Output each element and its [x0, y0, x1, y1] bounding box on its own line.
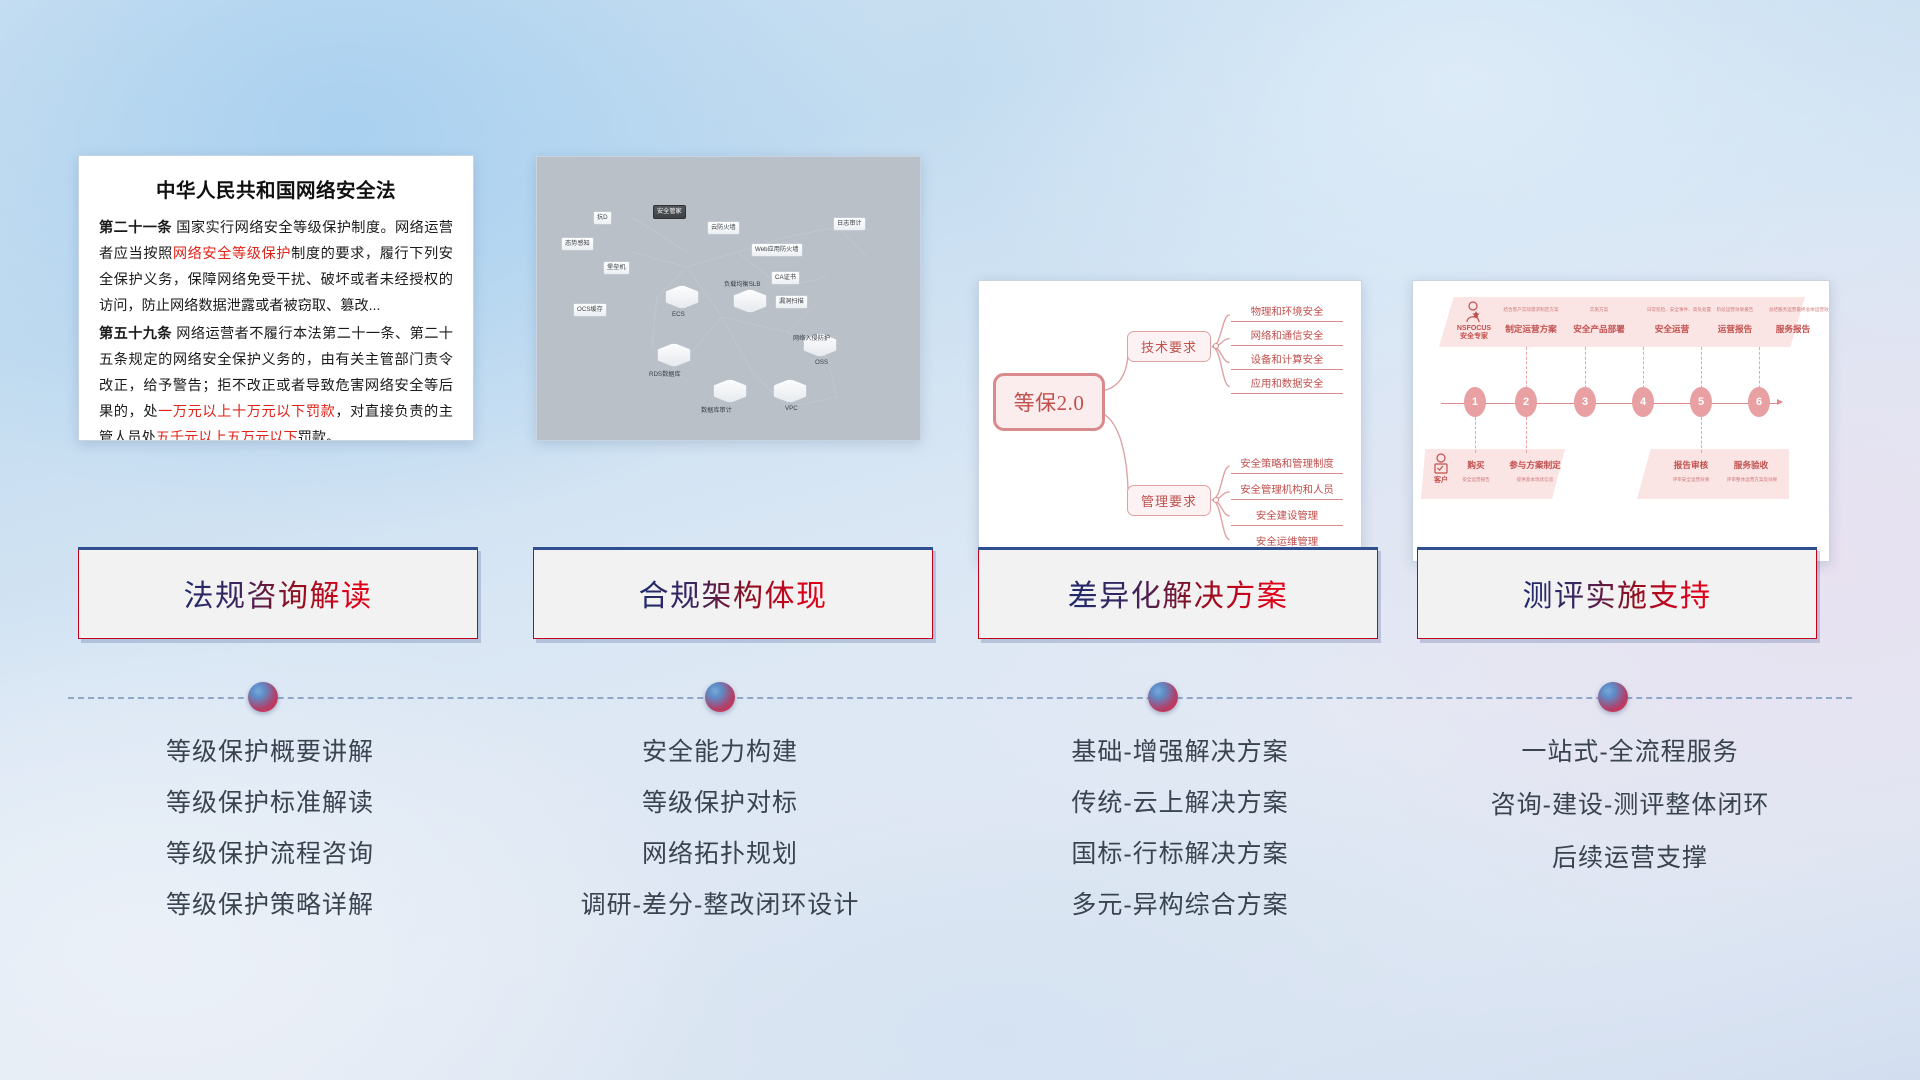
section-item: 后续运营支撑 — [1410, 846, 1850, 871]
process-step-number: 3 — [1574, 387, 1596, 417]
mindmap-leaf: 安全管理机构和人员 — [1231, 481, 1343, 500]
law-article-59: 第五十九条 网络运营者不履行本法第二十一条、第二十五条规定的网络安全保护义务的，… — [99, 322, 453, 441]
arch-node-label: OCS缓存 — [577, 306, 603, 313]
arch-node-vuln-scan: 漏洞扫描 — [775, 295, 808, 309]
law-article-21-label: 第二十一条 — [99, 220, 172, 236]
timeline-node-4[interactable] — [1598, 682, 1628, 712]
section-item: 等级保护概要讲解 — [60, 740, 480, 765]
timeline-node-2[interactable] — [705, 682, 735, 712]
section-items-column-1: 等级保护概要讲解 等级保护标准解读 等级保护流程咨询 等级保护策略详解 — [60, 740, 480, 944]
arch-node-label: Web应用防火墙 — [755, 246, 799, 253]
law-card-title: 中华人民共和国网络安全法 — [99, 174, 453, 203]
section-header-title: 差异化解决方案 — [1068, 571, 1289, 615]
arch-node-anti-d: 抗D — [593, 211, 612, 225]
process-dash-connector — [1526, 417, 1527, 453]
process-customer-sub: 提供基本现状信息 — [1501, 477, 1569, 483]
card-cybersecurity-law[interactable]: 中华人民共和国网络安全法 第二十一条 国家实行网络安全等级保护制度。网络运营者应… — [78, 155, 474, 441]
customer-person-icon — [1431, 453, 1451, 475]
arch-node-ca-cert: CA证书 — [771, 271, 800, 285]
section-header-box-1[interactable]: 法规咨询解读 — [78, 547, 478, 639]
process-stage-sub: 实施方案 — [1569, 307, 1629, 313]
arch-label-rds: RDS数据库 — [649, 369, 681, 378]
section-item: 安全能力构建 — [500, 740, 940, 765]
arch-node-label: 安全管家 — [657, 208, 682, 215]
mindmap-leaf: 安全策略和管理制度 — [1231, 455, 1343, 474]
card-service-process[interactable]: NSFOCUS 安全专家 客户 结合客户实际需求制定方案 制定运营方案 实施方案… — [1412, 280, 1830, 562]
arch-node-bastion: 堡垒机 — [603, 261, 630, 275]
law-article-59-label: 第五十九条 — [99, 326, 172, 342]
process-stage-sub: 总结服务运营最终总体运营效果 — [1743, 307, 1830, 313]
process-stage-title: 安全产品部署 — [1563, 323, 1635, 335]
process-stage-title: 服务报告 — [1763, 323, 1823, 335]
process-step-number: 1 — [1464, 387, 1486, 417]
arch-node-log-audit: 日志审计 — [833, 217, 866, 231]
process-step-number: 2 — [1515, 387, 1537, 417]
section-item: 等级保护策略详解 — [60, 893, 480, 918]
process-customer-title: 报告审核 — [1663, 459, 1719, 471]
process-step-number: 6 — [1748, 387, 1770, 417]
section-item: 调研-差分-整改闭环设计 — [500, 893, 940, 918]
mindmap-leaf: 物理和环境安全 — [1231, 303, 1343, 322]
expert-role-line2: 安全专家 — [1447, 333, 1501, 341]
arch-label-ecs: ECS — [672, 311, 685, 318]
mindmap-diagram: 等保2.0 技术要求 管理要求 物理和环境安全 网络和通信安全 设备和计算安全 … — [979, 281, 1361, 562]
mindmap-leaf: 网络和通信安全 — [1231, 327, 1343, 346]
section-header-title: 法规咨询解读 — [184, 571, 373, 615]
card-mindmap-dengbao[interactable]: 等保2.0 技术要求 管理要求 物理和环境安全 网络和通信安全 设备和计算安全 … — [978, 280, 1362, 563]
arch-node-security-center: 安全管家 — [653, 205, 686, 219]
section-item: 等级保护标准解读 — [60, 791, 480, 816]
law-article-59-highlight-1: 一万元以上十万元以下罚款 — [158, 404, 335, 420]
arch-node-cloud-firewall: 云防火墙 — [707, 221, 740, 235]
timeline-node-3[interactable] — [1148, 682, 1178, 712]
section-item: 咨询-建设-测评整体闭环 — [1410, 793, 1850, 818]
section-header-box-2[interactable]: 合规架构体现 — [533, 547, 933, 639]
section-header-box-4[interactable]: 测评实施支持 — [1417, 547, 1817, 639]
timeline-dashed-line — [68, 697, 1852, 699]
section-items-column-3: 基础-增强解决方案 传统-云上解决方案 国标-行标解决方案 多元-异构综合方案 — [960, 740, 1400, 944]
process-step-number: 4 — [1632, 387, 1654, 417]
mindmap-leaf: 安全建设管理 — [1231, 507, 1343, 526]
process-customer-sub: 评审整体运营方案及效果 — [1713, 477, 1791, 483]
process-dash-connector — [1475, 417, 1476, 453]
process-stage-title: 运营报告 — [1705, 323, 1765, 335]
section-item: 一站式-全流程服务 — [1410, 740, 1850, 765]
arch-node-label: 日志审计 — [837, 220, 862, 227]
arch-label-vpc: VPC — [785, 405, 798, 412]
section-item: 国标-行标解决方案 — [960, 842, 1400, 867]
screenshot-cards-row: 中华人民共和国网络安全法 第二十一条 国家实行网络安全等级保护制度。网络运营者应… — [0, 128, 1920, 428]
mindmap-branch-management: 管理要求 — [1127, 485, 1211, 516]
process-diagram: NSFOCUS 安全专家 客户 结合客户实际需求制定方案 制定运营方案 实施方案… — [1413, 281, 1829, 561]
arch-node-label: 堡垒机 — [607, 264, 626, 271]
arch-label-slb: 负载均衡SLB — [724, 279, 760, 288]
process-customer-title: 服务验收 — [1723, 459, 1779, 471]
arch-label-network-ips: 网络入侵防护 — [793, 333, 830, 342]
process-axis-arrow-icon — [1777, 399, 1783, 405]
arch-label-db-audit: 数据库审计 — [701, 405, 732, 414]
section-header-box-3[interactable]: 差异化解决方案 — [978, 547, 1378, 639]
mindmap-branch-technical: 技术要求 — [1127, 331, 1211, 362]
timeline-node-1[interactable] — [248, 682, 278, 712]
process-dash-connector — [1701, 417, 1702, 453]
section-items-column-4: 一站式-全流程服务 咨询-建设-测评整体闭环 后续运营支撑 — [1410, 740, 1850, 899]
section-item: 等级保护对标 — [500, 791, 940, 816]
process-customer-title: 购买 — [1455, 459, 1497, 471]
law-article-21: 第二十一条 国家实行网络安全等级保护制度。网络运营者应当按照网络安全等级保护制度… — [99, 216, 453, 320]
mindmap-leaf: 设备和计算安全 — [1231, 351, 1343, 370]
arch-node-label: 抗D — [597, 214, 608, 221]
arch-node-ocs-cache: OCS缓存 — [573, 303, 607, 317]
process-axis-line — [1441, 403, 1779, 404]
law-article-59-highlight-2: 五千元以上五万元以下 — [156, 430, 298, 441]
mindmap-collapse-dot-management[interactable] — [1213, 497, 1219, 503]
section-headers-row: 法规咨询解读 合规架构体现 差异化解决方案 测评实施支持 — [0, 547, 1920, 641]
process-customer-sub: 安全运营报告 — [1449, 477, 1503, 483]
arch-node-waf: Web应用防火墙 — [751, 243, 803, 257]
section-item: 多元-异构综合方案 — [960, 893, 1400, 918]
mindmap-root-node: 等保2.0 — [993, 373, 1105, 431]
section-item: 传统-云上解决方案 — [960, 791, 1400, 816]
expert-role-label: NSFOCUS 安全专家 — [1447, 325, 1501, 342]
process-stage-title: 制定运营方案 — [1495, 323, 1567, 335]
law-article-59-text-c: 罚款。 — [298, 430, 341, 441]
section-header-title: 测评实施支持 — [1523, 571, 1712, 615]
process-step-number: 5 — [1690, 387, 1712, 417]
arch-node-label: 云防火墙 — [711, 224, 736, 231]
section-header-title: 合规架构体现 — [639, 571, 828, 615]
process-customer-title: 参与方案制定 — [1499, 459, 1571, 471]
process-stage-title: 安全运营 — [1641, 323, 1703, 335]
process-band-customer-right — [1637, 449, 1789, 499]
arch-node-situation-awareness: 态势感知 — [561, 237, 594, 251]
section-item: 基础-增强解决方案 — [960, 740, 1400, 765]
mindmap-leaf: 应用和数据安全 — [1231, 375, 1343, 394]
card-cloud-architecture[interactable]: 基础合规架构增强合规架构 安全管家 — [536, 156, 921, 441]
mindmap-collapse-dot-technical[interactable] — [1213, 343, 1219, 349]
process-stage-sub: 结合客户实际需求制定方案 — [1479, 307, 1583, 313]
law-card-body: 中华人民共和国网络安全法 第二十一条 国家实行网络安全等级保护制度。网络运营者应… — [79, 156, 473, 441]
arch-label-oss: OSS — [815, 359, 828, 366]
law-article-21-highlight: 网络安全等级保护 — [173, 246, 291, 262]
arch-node-label: CA证书 — [775, 274, 796, 281]
section-item: 网络拓扑规划 — [500, 842, 940, 867]
arch-node-label: 漏洞扫描 — [779, 298, 804, 305]
architecture-diagram: 基础合规架构增强合规架构 安全管家 — [537, 157, 920, 440]
section-items-column-2: 安全能力构建 等级保护对标 网络拓扑规划 调研-差分-整改闭环设计 — [500, 740, 940, 944]
arch-node-label: 态势感知 — [565, 240, 590, 247]
section-item: 等级保护流程咨询 — [60, 842, 480, 867]
